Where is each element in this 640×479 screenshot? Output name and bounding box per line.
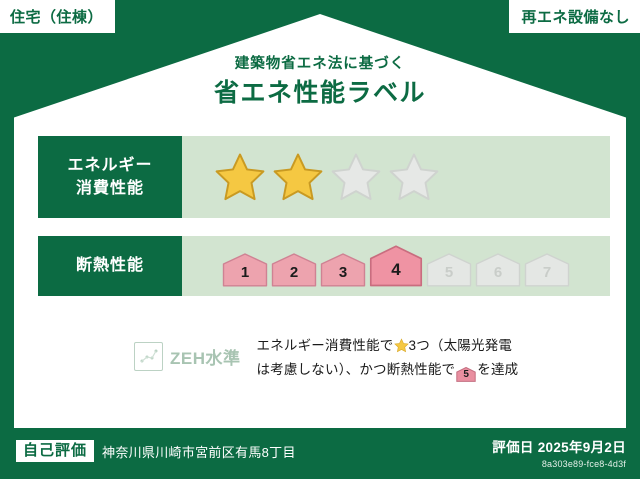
star-empty-icon — [388, 151, 440, 203]
insulation-level-number: 5 — [445, 265, 453, 287]
inline-insulation-badge-number: 5 — [456, 367, 476, 382]
label-hash-id: 8a303e89-fce8-4d3f — [492, 459, 626, 469]
energy-performance-label: エネルギー 消費性能 — [38, 136, 182, 218]
inline-insulation-badge: 5 — [456, 367, 476, 382]
footer-right-group: 評価日 2025年9月2日 8a303e89-fce8-4d3f — [492, 436, 626, 469]
insulation-level-badge-5: 5 — [426, 253, 472, 287]
self-evaluation-badge: 自己評価 — [16, 440, 94, 462]
insulation-level-number: 1 — [241, 265, 249, 287]
insulation-level-number: 4 — [391, 261, 400, 287]
insulation-level-badge-6: 6 — [475, 253, 521, 287]
zeh-chart-icon — [134, 342, 163, 371]
description-line-1-suffix: 3つ（太陽光発電 — [409, 338, 513, 353]
label-footer: 自己評価 神奈川県川崎市宮前区有馬8丁目 評価日 2025年9月2日 8a303… — [0, 428, 640, 479]
description-line-2-suffix: を達成 — [477, 362, 518, 377]
insulation-level-badge-3: 3 — [320, 253, 366, 287]
energy-label-line-1: エネルギー — [67, 154, 152, 177]
insulation-level-scale: 1234567 — [222, 245, 570, 287]
zeh-standard-mark: ZEH水準 — [134, 334, 241, 371]
star-rating — [214, 151, 440, 203]
insulation-level-number: 3 — [339, 265, 347, 287]
insulation-level-number: 2 — [290, 265, 298, 287]
property-address: 神奈川県川崎市宮前区有馬8丁目 — [102, 442, 296, 461]
inline-star-icon — [394, 337, 409, 352]
energy-label-line-2: 消費性能 — [76, 177, 144, 200]
energy-performance-label: 住宅（住棟） 再エネ設備なし 建築物省エネ法に基づく 省エネ性能ラベル エネルギ… — [0, 0, 640, 479]
energy-performance-value — [182, 136, 610, 218]
zeh-standard-text: ZEH水準 — [170, 344, 241, 369]
description-line-1-prefix: エネルギー消費性能で — [257, 338, 394, 353]
insulation-level-badge-2: 2 — [271, 253, 317, 287]
insulation-performance-label: 断熱性能 — [38, 236, 182, 296]
insulation-label-text: 断熱性能 — [76, 254, 144, 277]
insulation-performance-row: 断熱性能 1234567 — [38, 236, 610, 296]
star-empty-icon — [330, 151, 382, 203]
insulation-level-number: 7 — [543, 265, 551, 287]
insulation-level-badge-1: 1 — [222, 253, 268, 287]
insulation-level-badge-4: 4 — [369, 245, 423, 287]
building-type-tag: 住宅（住棟） — [0, 0, 115, 33]
insulation-level-badge-7: 7 — [524, 253, 570, 287]
insulation-performance-value: 1234567 — [182, 236, 610, 296]
insulation-level-number: 6 — [494, 265, 502, 287]
renewable-equipment-tag: 再エネ設備なし — [509, 0, 640, 33]
zeh-description-block: ZEH水準 エネルギー消費性能で3つ（太陽光発電 は考慮しない）、かつ断熱性能で… — [38, 334, 610, 382]
evaluation-date: 評価日 2025年9月2日 — [492, 436, 626, 456]
footer-left-group: 自己評価 神奈川県川崎市宮前区有馬8丁目 — [16, 440, 296, 462]
star-filled-icon — [214, 151, 266, 203]
achievement-description: エネルギー消費性能で3つ（太陽光発電 は考慮しない）、かつ断熱性能で5を達成 — [257, 334, 611, 382]
description-line-2-prefix: は考慮しない）、かつ断熱性能で — [257, 362, 456, 377]
star-filled-icon — [272, 151, 324, 203]
energy-performance-row: エネルギー 消費性能 — [38, 136, 610, 218]
